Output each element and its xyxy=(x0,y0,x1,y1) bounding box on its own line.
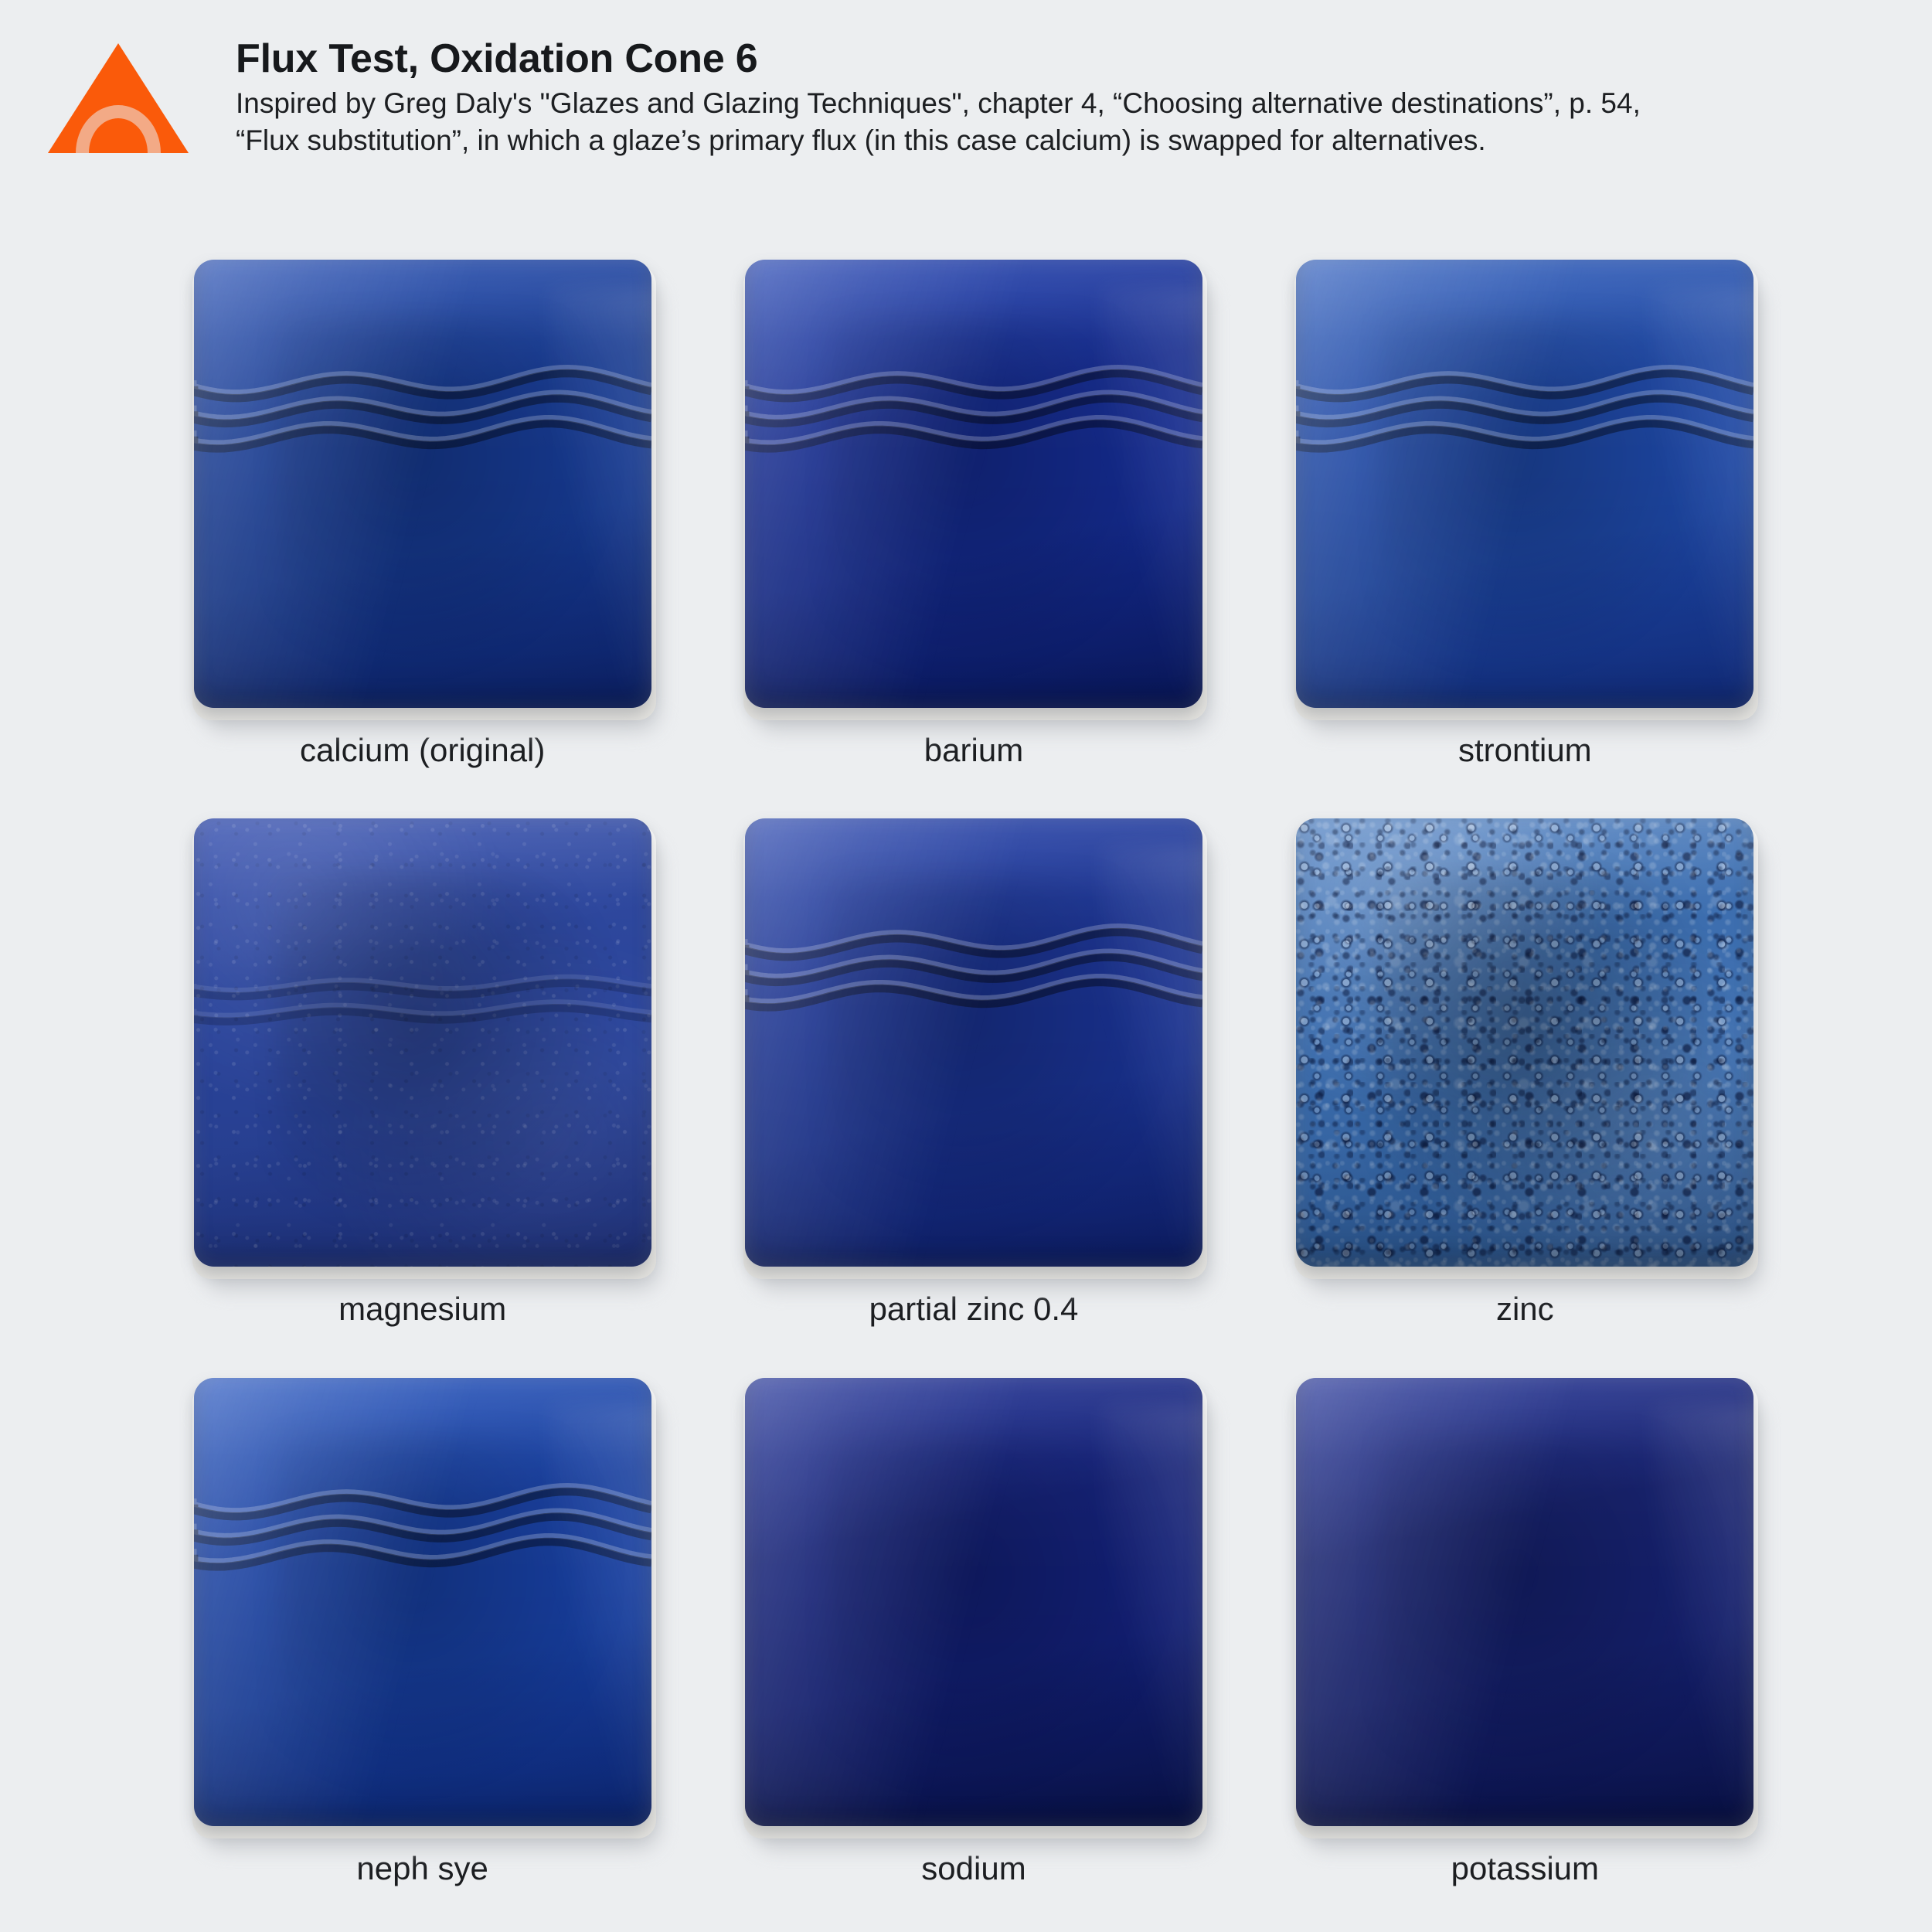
tile-edge-rim xyxy=(194,260,651,708)
tile-edge-rim xyxy=(1296,260,1753,708)
tile-label: strontium xyxy=(1458,734,1592,767)
glaze-test-tile-grid: calcium (original)bariumstrontiummagnesi… xyxy=(0,255,1932,1932)
tile-label: barium xyxy=(924,734,1023,767)
kiln-cone-logo xyxy=(45,37,192,153)
glaze-tile-partial-zinc-0-4[interactable] xyxy=(734,814,1213,1285)
header-text-block: Flux Test, Oxidation Cone 6 Inspired by … xyxy=(236,37,1859,159)
tile-edge-rim xyxy=(194,818,651,1267)
tile-glaze-surface xyxy=(745,1378,1202,1826)
tile-edge-rim xyxy=(1296,818,1753,1267)
tile-label: potassium xyxy=(1451,1852,1599,1885)
glaze-tile-neph-sye[interactable] xyxy=(183,1373,662,1845)
tile-glaze-surface xyxy=(194,1378,651,1826)
glaze-tile-sodium[interactable] xyxy=(734,1373,1213,1845)
tile-glaze-surface xyxy=(194,818,651,1267)
subtitle-line-1: Inspired by Greg Daly's "Glazes and Glaz… xyxy=(236,87,1243,119)
tile-glaze-surface xyxy=(1296,1378,1753,1826)
tile-edge-rim xyxy=(1296,1378,1753,1826)
tile-glaze-surface xyxy=(745,818,1202,1267)
tile-cell: neph sye xyxy=(147,1373,698,1932)
tile-edge-rim xyxy=(745,1378,1202,1826)
glaze-tile-barium[interactable] xyxy=(734,255,1213,726)
page-subtitle: Inspired by Greg Daly's "Glazes and Glaz… xyxy=(236,85,1650,159)
tile-label: calcium (original) xyxy=(300,734,545,767)
tile-edge-rim xyxy=(745,818,1202,1267)
tile-label: partial zinc 0.4 xyxy=(869,1293,1079,1325)
glaze-tile-potassium[interactable] xyxy=(1285,1373,1764,1845)
page-title: Flux Test, Oxidation Cone 6 xyxy=(236,37,1859,80)
tile-edge-rim xyxy=(745,260,1202,708)
tile-cell: sodium xyxy=(698,1373,1249,1932)
tile-cell: zinc xyxy=(1250,814,1801,1372)
tile-glaze-surface xyxy=(194,260,651,708)
tile-label: magnesium xyxy=(338,1293,506,1325)
tile-cell: calcium (original) xyxy=(147,255,698,814)
tile-cell: barium xyxy=(698,255,1249,814)
tile-cell: potassium xyxy=(1250,1373,1801,1932)
subtitle-line-3: (in this case calcium) is swapped for al… xyxy=(865,124,1486,156)
tile-glaze-surface xyxy=(1296,260,1753,708)
tile-glaze-surface xyxy=(1296,818,1753,1267)
tile-glaze-surface xyxy=(745,260,1202,708)
glaze-tile-zinc[interactable] xyxy=(1285,814,1764,1285)
page-header: Flux Test, Oxidation Cone 6 Inspired by … xyxy=(0,0,1932,255)
tile-label: zinc xyxy=(1496,1293,1554,1325)
tile-cell: partial zinc 0.4 xyxy=(698,814,1249,1372)
tile-cell: magnesium xyxy=(147,814,698,1372)
tile-label: neph sye xyxy=(356,1852,488,1885)
glaze-tile-strontium[interactable] xyxy=(1285,255,1764,726)
tile-edge-rim xyxy=(194,1378,651,1826)
glaze-tile-calcium-original-[interactable] xyxy=(183,255,662,726)
tile-label: sodium xyxy=(921,1852,1026,1885)
tile-cell: strontium xyxy=(1250,255,1801,814)
glaze-tile-magnesium[interactable] xyxy=(183,814,662,1285)
